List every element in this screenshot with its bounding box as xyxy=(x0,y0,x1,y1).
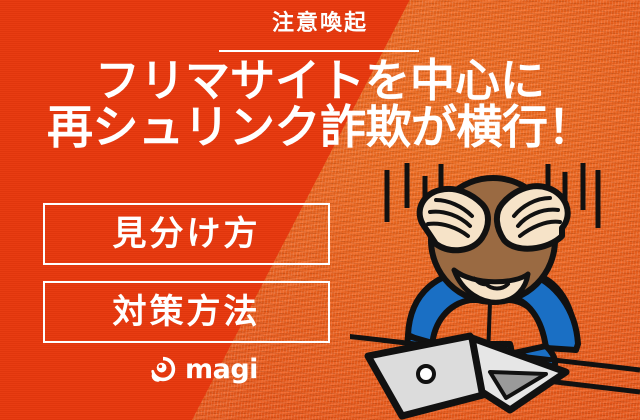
magi-logo[interactable]: magi xyxy=(148,352,258,386)
magi-wordmark: magi xyxy=(185,356,258,383)
frustrated-man-at-laptop-illustration xyxy=(350,160,640,420)
headline-line-1: フリマサイトを中心に xyxy=(0,58,640,104)
page-title: フリマサイトを中心に 再シュリンク詐欺が横行！ xyxy=(0,58,640,152)
headline-line-2: 再シュリンク詐欺が横行！ xyxy=(0,104,640,151)
kicker-wrap: 注意喚起 xyxy=(0,10,640,36)
kicker-divider xyxy=(219,50,419,52)
chip-identify[interactable]: 見分け方 xyxy=(43,203,330,265)
magi-circle-swoosh-icon xyxy=(148,354,178,384)
chip-identify-label: 見分け方 xyxy=(113,217,261,251)
chip-countermeasure[interactable]: 対策方法 xyxy=(43,281,330,343)
kicker-text: 注意喚起 xyxy=(272,10,368,36)
chip-countermeasure-label: 対策方法 xyxy=(113,295,261,329)
promo-banner: 注意喚起 フリマサイトを中心に 再シュリンク詐欺が横行！ 見分け方 対策方法 m… xyxy=(0,0,640,420)
